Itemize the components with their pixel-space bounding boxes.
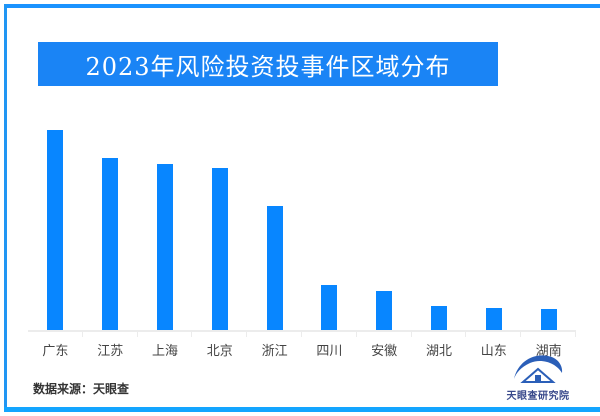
x-axis-label-江苏: 江苏 bbox=[83, 340, 138, 359]
chart-screenshot: 2023年风险投资投事件区域分布 广东江苏上海北京浙江四川安徽湖北山东湖南 数据… bbox=[0, 0, 600, 416]
bar-安徽 bbox=[376, 291, 392, 330]
bar-slot bbox=[28, 120, 83, 330]
x-axis-label-湖北: 湖北 bbox=[412, 340, 467, 359]
brand-logo: 天眼查研究院 bbox=[494, 346, 582, 402]
bar-slot bbox=[357, 120, 412, 330]
bar-slot bbox=[521, 120, 576, 330]
bar-浙江 bbox=[267, 206, 283, 330]
x-axis-label-北京: 北京 bbox=[192, 340, 247, 359]
bar-slot bbox=[83, 120, 138, 330]
x-axis-label-上海: 上海 bbox=[138, 340, 193, 359]
bar-广东 bbox=[47, 130, 63, 330]
bar-slot bbox=[138, 120, 193, 330]
frame-bottom-edge bbox=[4, 407, 600, 412]
bar-slot bbox=[247, 120, 302, 330]
bar-江苏 bbox=[102, 158, 118, 331]
bar-slot bbox=[412, 120, 467, 330]
frame-left-edge bbox=[4, 4, 7, 412]
frame-top-edge bbox=[4, 4, 600, 8]
bar-上海 bbox=[157, 164, 173, 330]
x-axis-label-安徽: 安徽 bbox=[357, 340, 412, 359]
chart-title-banner: 2023年风险投资投事件区域分布 bbox=[38, 42, 498, 86]
bar-山东 bbox=[486, 308, 502, 331]
x-axis-line bbox=[28, 330, 576, 332]
bar-slot bbox=[302, 120, 357, 330]
bar-湖北 bbox=[431, 306, 447, 330]
bar-四川 bbox=[321, 285, 337, 330]
bar-slot bbox=[192, 120, 247, 330]
brand-logo-text: 天眼查研究院 bbox=[507, 387, 570, 402]
x-axis-label-四川: 四川 bbox=[302, 340, 357, 359]
tianyancha-eye-icon bbox=[512, 353, 564, 385]
bar-北京 bbox=[212, 168, 228, 331]
bar-slot bbox=[466, 120, 521, 330]
chart-plot-area bbox=[28, 120, 576, 332]
x-axis-label-广东: 广东 bbox=[28, 340, 83, 359]
data-source-note: 数据来源：天眼查 bbox=[33, 380, 129, 397]
bar-湖南 bbox=[541, 309, 557, 330]
bar-series bbox=[28, 120, 576, 330]
x-axis-label-浙江: 浙江 bbox=[247, 340, 302, 359]
page-title: 2023年风险投资投事件区域分布 bbox=[85, 47, 450, 82]
